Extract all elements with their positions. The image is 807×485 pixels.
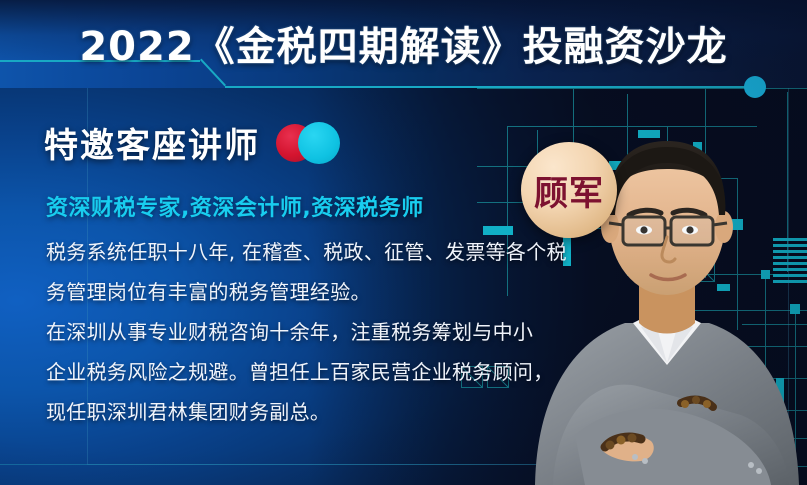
speaker-biography: 税务系统任职十八年, 在稽查、税政、征管、发票等各个税 务管理岗位有丰富的税务管…	[46, 232, 576, 432]
bio-line: 税务系统任职十八年, 在稽查、税政、征管、发票等各个税	[46, 232, 576, 272]
circle-decorations	[276, 122, 346, 164]
bio-line: 现任职深圳君林集团财务副总。	[46, 392, 576, 432]
heading-row: 特邀客座讲师	[44, 118, 346, 167]
page-title: 2022《金税四期解读》投融资沙龙	[0, 14, 807, 72]
bio-line: 企业税务风险之规避。曾担任上百家民营企业税务顾问，	[46, 352, 576, 392]
speaker-name: 顾军	[534, 166, 604, 215]
poster-canvas: 2022《金税四期解读》投融资沙龙 特邀客座讲师 资深财税专家,资深会计师,资深…	[0, 0, 807, 485]
section-heading: 特邀客座讲师	[44, 118, 260, 167]
cyan-circle-decoration	[298, 122, 340, 164]
speaker-name-badge: 顾军	[521, 142, 617, 238]
bio-line: 务管理岗位有丰富的税务管理经验。	[46, 272, 576, 312]
bio-line: 在深圳从事专业财税咨询十余年，注重税务筹划与中小	[46, 312, 576, 352]
speaker-credentials: 资深财税专家,资深会计师,资深税务师	[46, 190, 424, 222]
